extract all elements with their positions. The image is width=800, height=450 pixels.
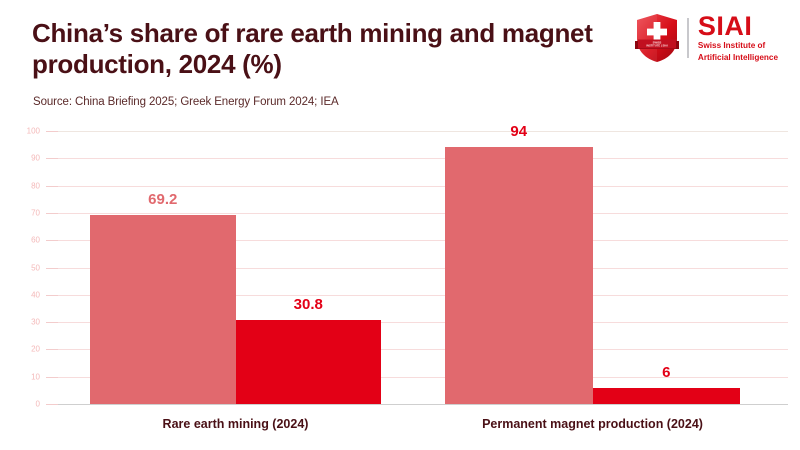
chart-header: China’s share of rare earth mining and m… bbox=[0, 0, 800, 120]
bar-chart: 1009080706050403020100 69.230.8946 Rare … bbox=[0, 120, 800, 450]
svg-text:INSTITUTE | SIAI: INSTITUTE | SIAI bbox=[646, 44, 668, 48]
logo-wordmark: SIAI Swiss Institute of Artificial Intel… bbox=[698, 14, 778, 62]
page-title: China’s share of rare earth mining and m… bbox=[32, 18, 612, 80]
source-caption: Source: China Briefing 2025; Greek Energ… bbox=[33, 96, 339, 108]
x-axis-category-label: Permanent magnet production (2024) bbox=[482, 417, 703, 431]
siai-logo: SWISS INSTITUTE | SIAI SIAI Swiss Instit… bbox=[634, 12, 778, 64]
chart-category-labels: Rare earth mining (2024)Permanent magnet… bbox=[0, 120, 800, 450]
logo-subtitle-line2: Artificial Intelligence bbox=[698, 53, 778, 63]
swiss-cross-shield-icon: SWISS INSTITUTE | SIAI bbox=[634, 13, 680, 63]
x-axis-category-label: Rare earth mining (2024) bbox=[163, 417, 309, 431]
logo-divider bbox=[687, 18, 689, 58]
logo-name: SIAI bbox=[698, 14, 778, 39]
logo-subtitle-line1: Swiss Institute of bbox=[698, 41, 778, 51]
